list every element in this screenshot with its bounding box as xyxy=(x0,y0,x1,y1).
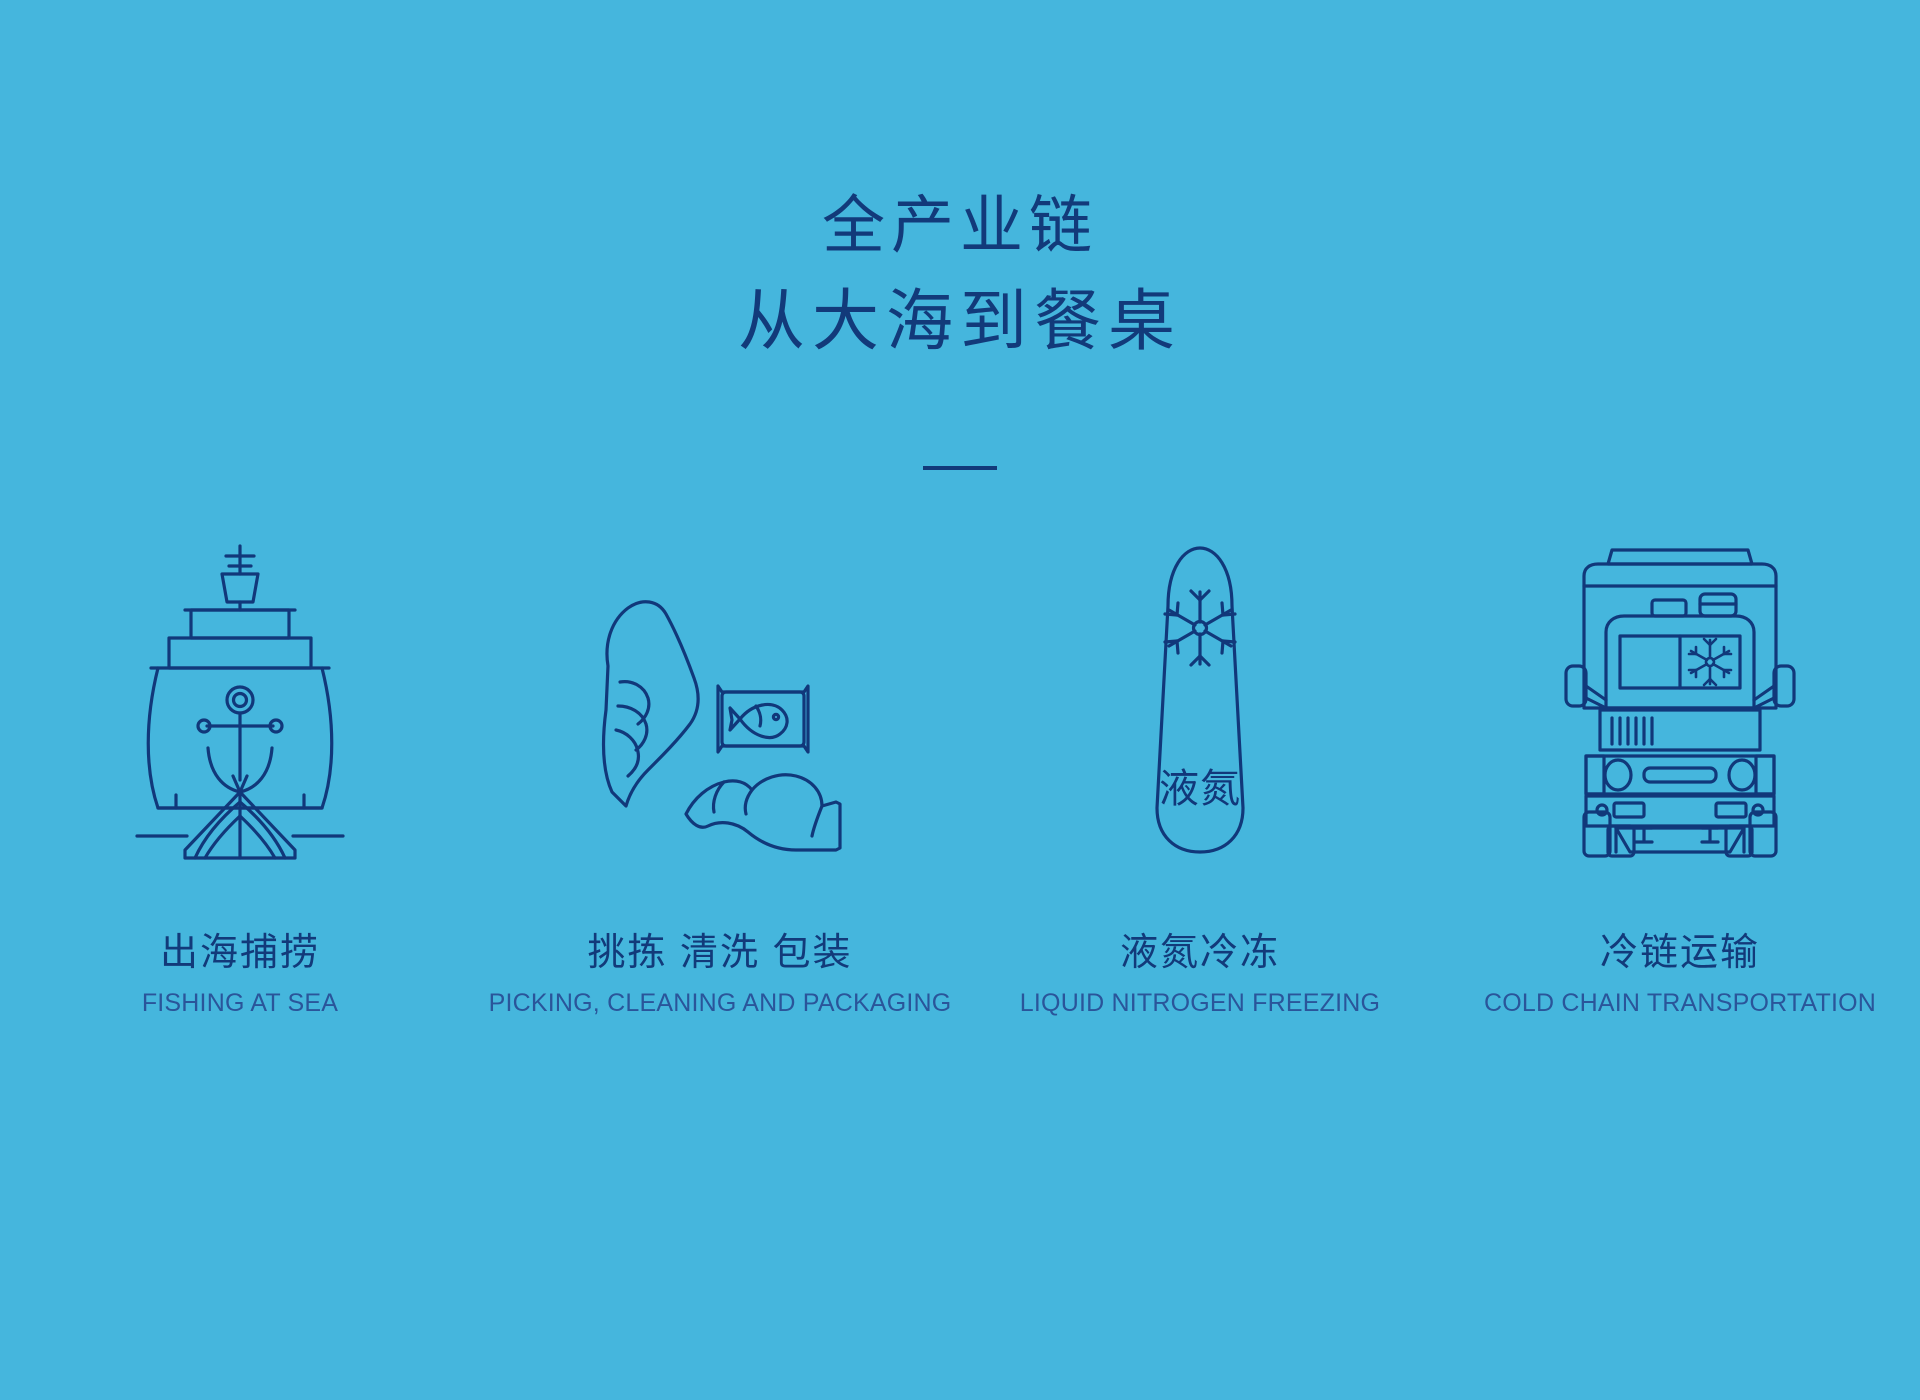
tank-text: 液氮 xyxy=(1159,767,1241,811)
step-labels: 冷链运输 COLD CHAIN TRANSPORTATION xyxy=(1484,930,1876,1018)
liquid-nitrogen-tank-icon: 液氮 xyxy=(1135,540,1265,860)
step-label-en: FISHING AT SEA xyxy=(142,988,338,1018)
step-label-en: COLD CHAIN TRANSPORTATION xyxy=(1484,988,1876,1018)
headline-line-1: 全产业链 xyxy=(0,180,1920,273)
fishing-boat-icon-wrap xyxy=(125,530,355,860)
step-label-cn: 液氮冷冻 xyxy=(1020,930,1380,978)
step-labels: 挑拣 清洗 包装 PICKING, CLEANING AND PACKAGING xyxy=(489,930,952,1018)
hands-packaged-fish-icon xyxy=(590,570,850,860)
step-label-cn: 冷链运输 xyxy=(1484,930,1876,978)
page-title: 全产业链 从大海到餐桌 xyxy=(0,180,1920,372)
step-labels: 液氮冷冻 LIQUID NITROGEN FREEZING xyxy=(1020,930,1380,1018)
hands-packaged-fish-icon-wrap xyxy=(590,530,850,860)
step-label-cn: 挑拣 清洗 包装 xyxy=(489,930,952,978)
refrigerated-truck-icon-wrap xyxy=(1560,530,1800,860)
step-label-en: PICKING, CLEANING AND PACKAGING xyxy=(489,988,952,1018)
refrigerated-truck-icon xyxy=(1560,540,1800,860)
step-label-en: LIQUID NITROGEN FREEZING xyxy=(1020,988,1380,1018)
snowflake-glyph xyxy=(1689,639,1731,685)
step-cold-chain-transportation[interactable]: 冷链运输 COLD CHAIN TRANSPORTATION xyxy=(1440,530,1920,1018)
step-picking-cleaning-packaging[interactable]: 挑拣 清洗 包装 PICKING, CLEANING AND PACKAGING xyxy=(480,530,960,1018)
headline-line-2: 从大海到餐桌 xyxy=(0,273,1920,372)
step-fishing-at-sea[interactable]: 出海捕捞 FISHING AT SEA xyxy=(0,530,480,1018)
step-label-cn: 出海捕捞 xyxy=(142,930,338,978)
step-labels: 出海捕捞 FISHING AT SEA xyxy=(142,930,338,1018)
infographic-page: 全产业链 从大海到餐桌 xyxy=(0,0,1920,1400)
process-steps-row: 出海捕捞 FISHING AT SEA xyxy=(0,530,1920,1018)
step-liquid-nitrogen-freezing[interactable]: 液氮 液氮冷冻 LIQUID NITROGEN FREEZING xyxy=(960,530,1440,1018)
liquid-nitrogen-tank-icon-wrap: 液氮 xyxy=(1135,530,1265,860)
title-divider-rule xyxy=(923,466,997,470)
fishing-boat-icon xyxy=(125,540,355,860)
snowflake-glyph xyxy=(1165,591,1235,665)
